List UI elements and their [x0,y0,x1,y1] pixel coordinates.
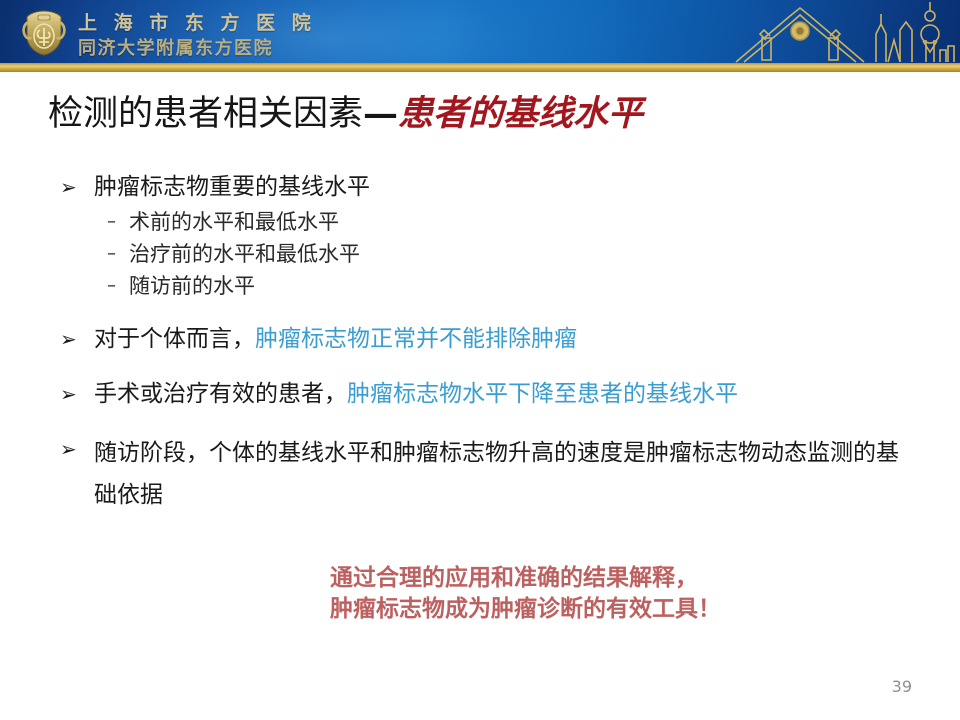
bullet-arrow-icon: ➢ [52,377,94,411]
sub-bullet-text: 随访前的水平 [129,270,255,302]
bullet-item-2: ➢ 对于个体而言，肿瘤标志物正常并不能排除肿瘤 [52,322,577,356]
slide-canvas: 上 海 市 东 方 医 院 同济大学附属东方医院 [0,0,960,720]
dash-marker-icon: – [107,206,129,238]
bullet-arrow-icon: ➢ [52,322,94,356]
org-name-block: 上 海 市 东 方 医 院 同济大学附属东方医院 [78,6,308,61]
bullet-item-4: ➢ 随访阶段，个体的基线水平和肿瘤标志物升高的速度是肿瘤标志物动态监测的基础依据 [52,432,912,516]
conclusion-block: 通过合理的应用和准确的结果解释， 肿瘤标志物成为肿瘤诊断的有效工具！ [330,562,721,624]
bullet-text-1: 肿瘤标志物重要的基线水平 [94,170,370,204]
org-name-primary: 上 海 市 东 方 医 院 [78,8,316,35]
gold-divider-rule [0,63,960,72]
gate-skyline-outline-icon [730,0,960,64]
page-number: 39 [892,677,912,696]
bullet-text-3-plain: 手术或治疗有效的患者， [94,381,347,407]
page-title-dash: — [363,93,398,134]
bullet-text-4: 随访阶段，个体的基线水平和肿瘤标志物升高的速度是肿瘤标志物动态监测的基础依据 [94,432,904,516]
bullet-text-2: 对于个体而言，肿瘤标志物正常并不能排除肿瘤 [94,322,577,356]
shield-emblem-icon [19,8,69,58]
bullet-text-2-plain: 对于个体而言， [94,326,255,352]
sub-bullet-item: – 治疗前的水平和最低水平 [107,238,370,270]
bullet-arrow-icon: ➢ [52,170,94,204]
conclusion-line-1: 通过合理的应用和准确的结果解释， [330,562,721,593]
bullet-item-3: ➢ 手术或治疗有效的患者，肿瘤标志物水平下降至患者的基线水平 [52,377,738,411]
bullet-text-2-highlight: 肿瘤标志物正常并不能排除肿瘤 [255,326,577,352]
header-banner: 上 海 市 东 方 医 院 同济大学附属东方医院 [0,0,960,64]
sub-bullet-list-1: – 术前的水平和最低水平 – 治疗前的水平和最低水平 – 随访前的水平 [107,206,370,302]
sub-bullet-item: – 术前的水平和最低水平 [107,206,370,238]
dash-marker-icon: – [107,238,129,270]
sub-bullet-item: – 随访前的水平 [107,270,370,302]
dash-marker-icon: – [107,270,129,302]
bullet-text-3: 手术或治疗有效的患者，肿瘤标志物水平下降至患者的基线水平 [94,377,738,411]
page-title: 检测的患者相关因素—患者的基线水平 [48,92,643,136]
sub-bullet-text: 术前的水平和最低水平 [129,206,339,238]
conclusion-line-2: 肿瘤标志物成为肿瘤诊断的有效工具！ [330,593,721,624]
sub-bullet-text: 治疗前的水平和最低水平 [129,238,360,270]
page-title-accent: 患者的基线水平 [398,93,643,134]
bullet-text-3-highlight: 肿瘤标志物水平下降至患者的基线水平 [347,381,738,407]
bullet-arrow-icon: ➢ [52,432,94,466]
org-name-secondary: 同济大学附属东方医院 [78,34,273,60]
bullet-item-1: ➢ 肿瘤标志物重要的基线水平 – 术前的水平和最低水平 – 治疗前的水平和最低水… [52,170,370,302]
page-title-main: 检测的患者相关因素 [48,94,363,134]
